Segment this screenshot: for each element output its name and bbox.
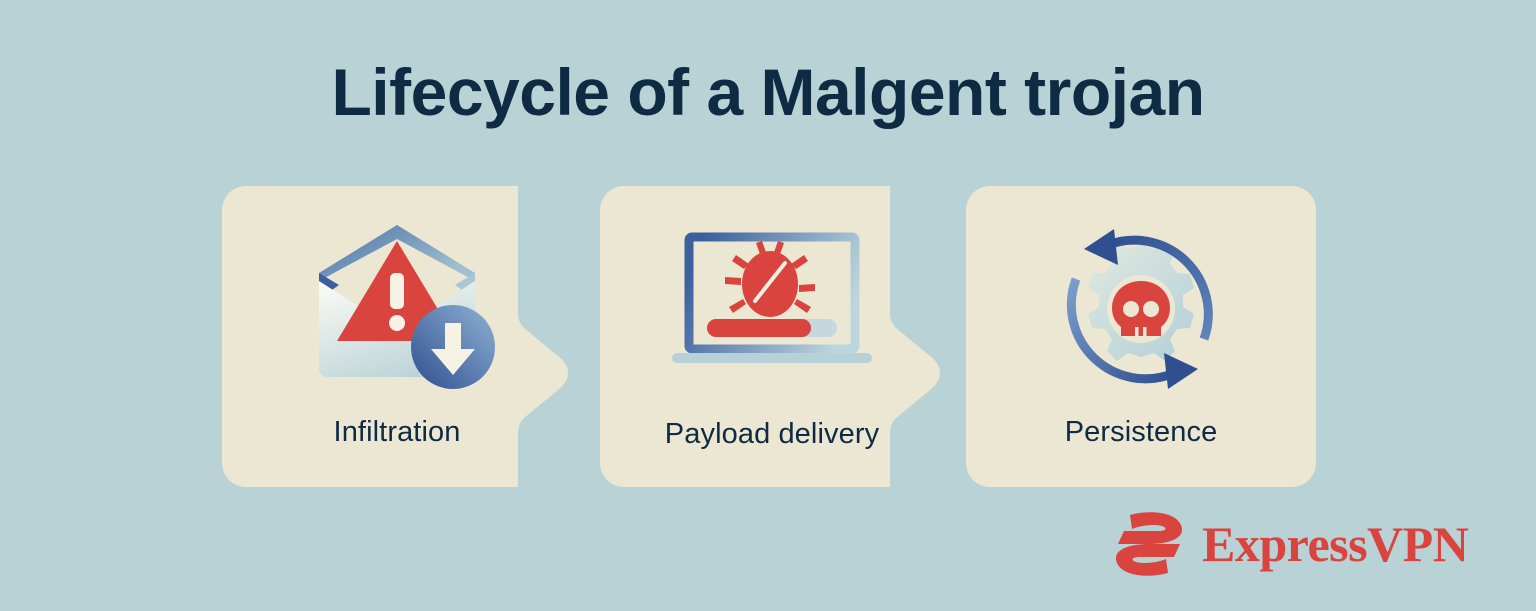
stage-row: Infiltration	[222, 186, 1316, 487]
gear-skull-refresh-icon	[1036, 214, 1246, 399]
card-body: Persistence	[966, 186, 1316, 487]
expressvpn-e-logo-icon	[1110, 511, 1188, 577]
stage-label-persistence: Persistence	[966, 416, 1316, 449]
skull-tooth-gap-2	[1143, 327, 1147, 336]
infographic-canvas: Lifecycle of a Malgent trojan	[0, 0, 1536, 611]
persistence-icon-svg	[1046, 217, 1236, 397]
stage-card-infiltration[interactable]: Infiltration	[222, 186, 572, 487]
warning-exclamation-bar	[390, 273, 404, 309]
laptop-bug-progress-icon	[667, 214, 877, 399]
envelope-icon-svg	[297, 219, 497, 394]
laptop-icon-svg	[667, 227, 877, 387]
refresh-arrowhead-bottom	[1164, 353, 1198, 389]
stage-label-infiltration: Infiltration	[222, 416, 572, 449]
stage-label-payload-delivery: Payload delivery	[600, 418, 944, 451]
expressvpn-logo[interactable]: ExpressVPN	[1110, 508, 1430, 580]
envelope-warning-download-icon	[292, 214, 502, 399]
skull-tooth-gap-1	[1135, 327, 1139, 336]
skull-eye-left	[1123, 301, 1139, 317]
stage-card-persistence[interactable]: Persistence	[966, 186, 1316, 487]
card-body: Infiltration	[222, 186, 572, 487]
refresh-arrowhead-top	[1084, 229, 1118, 265]
warning-exclamation-dot	[389, 315, 405, 331]
skull-eye-right	[1143, 301, 1159, 317]
laptop-base	[672, 353, 872, 363]
card-body: Payload delivery	[600, 186, 944, 487]
expressvpn-wordmark: ExpressVPN	[1202, 519, 1468, 569]
page-title: Lifecycle of a Malgent trojan	[0, 56, 1536, 129]
stage-card-payload-delivery[interactable]: Payload delivery	[600, 186, 944, 487]
progress-bar-fill	[707, 319, 811, 337]
